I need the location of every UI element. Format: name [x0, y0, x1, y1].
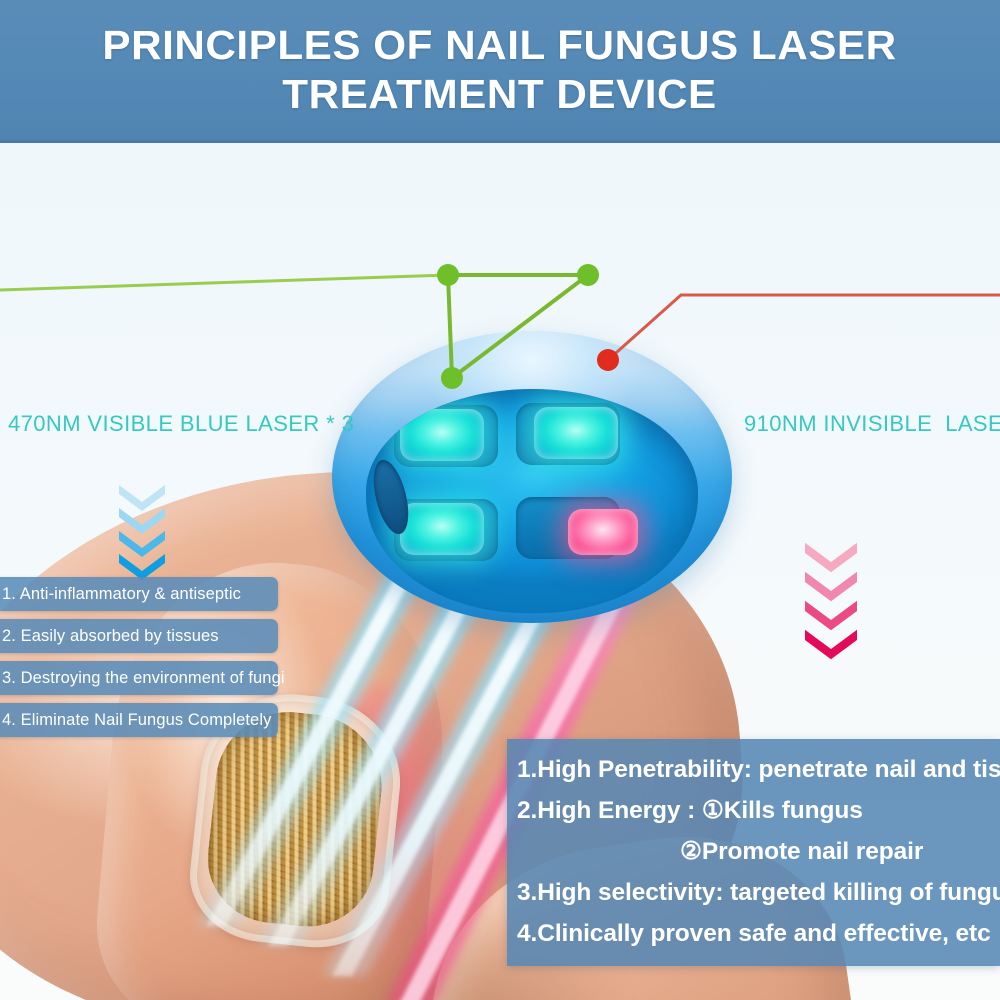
feature-item: ②Promote nail repair: [517, 831, 992, 872]
title-banner: PRINCIPLES OF NAIL FUNGUS LASER TREATMEN…: [0, 0, 1000, 143]
chevron-down-icon: [805, 629, 857, 660]
list-item: 1. Anti-inflammatory & antiseptic: [0, 577, 278, 611]
blue-led-marker-3: [441, 367, 463, 389]
callout-red-laser-label: 910NM INVISIBLE LASER: [744, 411, 1000, 437]
list-item: 3. Destroying the environment of fungi: [0, 661, 278, 695]
blue-led-marker-1: [437, 264, 459, 286]
chevron-down-icon: [805, 600, 857, 631]
chevron-down-icon: [805, 571, 857, 602]
feature-item: 4.Clinically proven safe and effective, …: [517, 913, 992, 954]
infographic-root: PRINCIPLES OF NAIL FUNGUS LASER TREATMEN…: [0, 0, 1000, 1000]
blue-chevron-stack: [119, 485, 165, 577]
pink-led-marker: [597, 349, 619, 371]
callout-blue-laser-label: 470NM VISIBLE BLUE LASER * 3: [8, 411, 354, 437]
page-title: PRINCIPLES OF NAIL FUNGUS LASER TREATMEN…: [72, 21, 928, 119]
product-photo-area: 470NM VISIBLE BLUE LASER * 3 910NM INVIS…: [0, 143, 1000, 1000]
list-item: 2. Easily absorbed by tissues: [0, 619, 278, 653]
features-panel: 1.High Penetrability: penetrate nail and…: [507, 739, 1000, 966]
chevron-down-icon: [805, 542, 857, 573]
benefits-list: 1. Anti-inflammatory & antiseptic 2. Eas…: [0, 577, 278, 737]
red-laser-leader: [597, 295, 1000, 371]
feature-item: 2.High Energy : ①Kills fungus: [517, 790, 992, 831]
feature-item: 3.High selectivity: targeted killing of …: [517, 872, 992, 913]
blue-laser-leader: [0, 264, 599, 389]
pink-chevron-stack: [805, 542, 857, 658]
list-item: 4. Eliminate Nail Fungus Completely: [0, 703, 278, 737]
feature-item: 1.High Penetrability: penetrate nail and…: [517, 749, 992, 790]
blue-led-marker-2: [577, 264, 599, 286]
